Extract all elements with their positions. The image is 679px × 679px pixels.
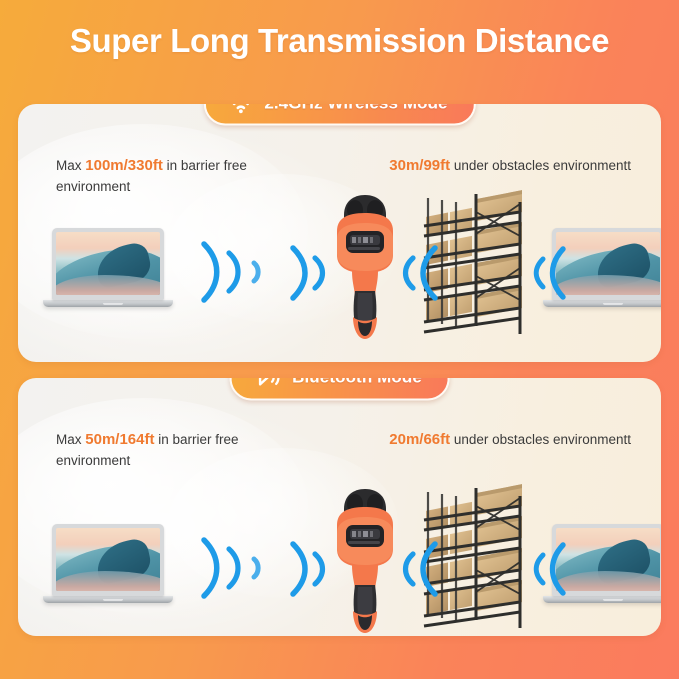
signal-waves-scanner-right bbox=[390, 538, 442, 605]
wifi-icon bbox=[227, 104, 253, 114]
badge-label: 2.4GHz Wireless Mode bbox=[264, 104, 447, 114]
laptop-left bbox=[52, 228, 173, 307]
caption-barrier-free: Max 100m/330ft in barrier free environme… bbox=[56, 154, 306, 198]
laptop-base bbox=[43, 300, 173, 307]
laptop-screen bbox=[56, 528, 160, 591]
laptop-base bbox=[43, 596, 173, 603]
distance-value: 30m/99ft bbox=[389, 157, 450, 174]
laptop-screen bbox=[556, 528, 660, 591]
caption-obstacles: 20m/66ft under obstacles environmentt bbox=[381, 428, 631, 451]
distance-value: 50m/164ft bbox=[85, 431, 154, 448]
caption-prefix: Max bbox=[56, 432, 85, 447]
badge-bluetooth-mode[interactable]: Bluetooth Mode bbox=[229, 378, 450, 401]
caption-suffix: under obstacles environmentt bbox=[450, 158, 631, 173]
badge-wireless-mode[interactable]: 2.4GHz Wireless Mode bbox=[203, 104, 475, 126]
laptop-screen bbox=[56, 232, 160, 295]
product-infographic: Super Long Transmission Distance 2.4GHz … bbox=[0, 0, 679, 679]
laptop-screen bbox=[556, 232, 660, 295]
caption-suffix: under obstacles environmentt bbox=[450, 432, 631, 447]
caption-prefix: Max bbox=[56, 158, 85, 173]
caption-barrier-free: Max 50m/164ft in barrier free environmen… bbox=[56, 428, 306, 472]
badge-label: Bluetooth Mode bbox=[292, 378, 422, 388]
distance-value: 20m/66ft bbox=[389, 431, 450, 448]
distance-value: 100m/330ft bbox=[85, 157, 163, 174]
laptop-left bbox=[52, 524, 173, 603]
caption-obstacles: 30m/99ft under obstacles environmentt bbox=[381, 154, 631, 177]
panel-wireless-mode: 2.4GHz Wireless Mode Max 100m/330ft in b… bbox=[18, 104, 661, 362]
laptop-lid bbox=[52, 524, 164, 596]
panel-bluetooth-mode: Bluetooth Mode Max 50m/164ft in barrier … bbox=[18, 378, 661, 636]
bluetooth-icon bbox=[253, 378, 281, 389]
signal-waves-right bbox=[524, 244, 570, 307]
signal-waves-scanner-right bbox=[390, 242, 442, 309]
laptop-lid bbox=[52, 228, 164, 300]
signal-waves-right bbox=[524, 540, 570, 603]
page-title: Super Long Transmission Distance bbox=[0, 22, 679, 60]
